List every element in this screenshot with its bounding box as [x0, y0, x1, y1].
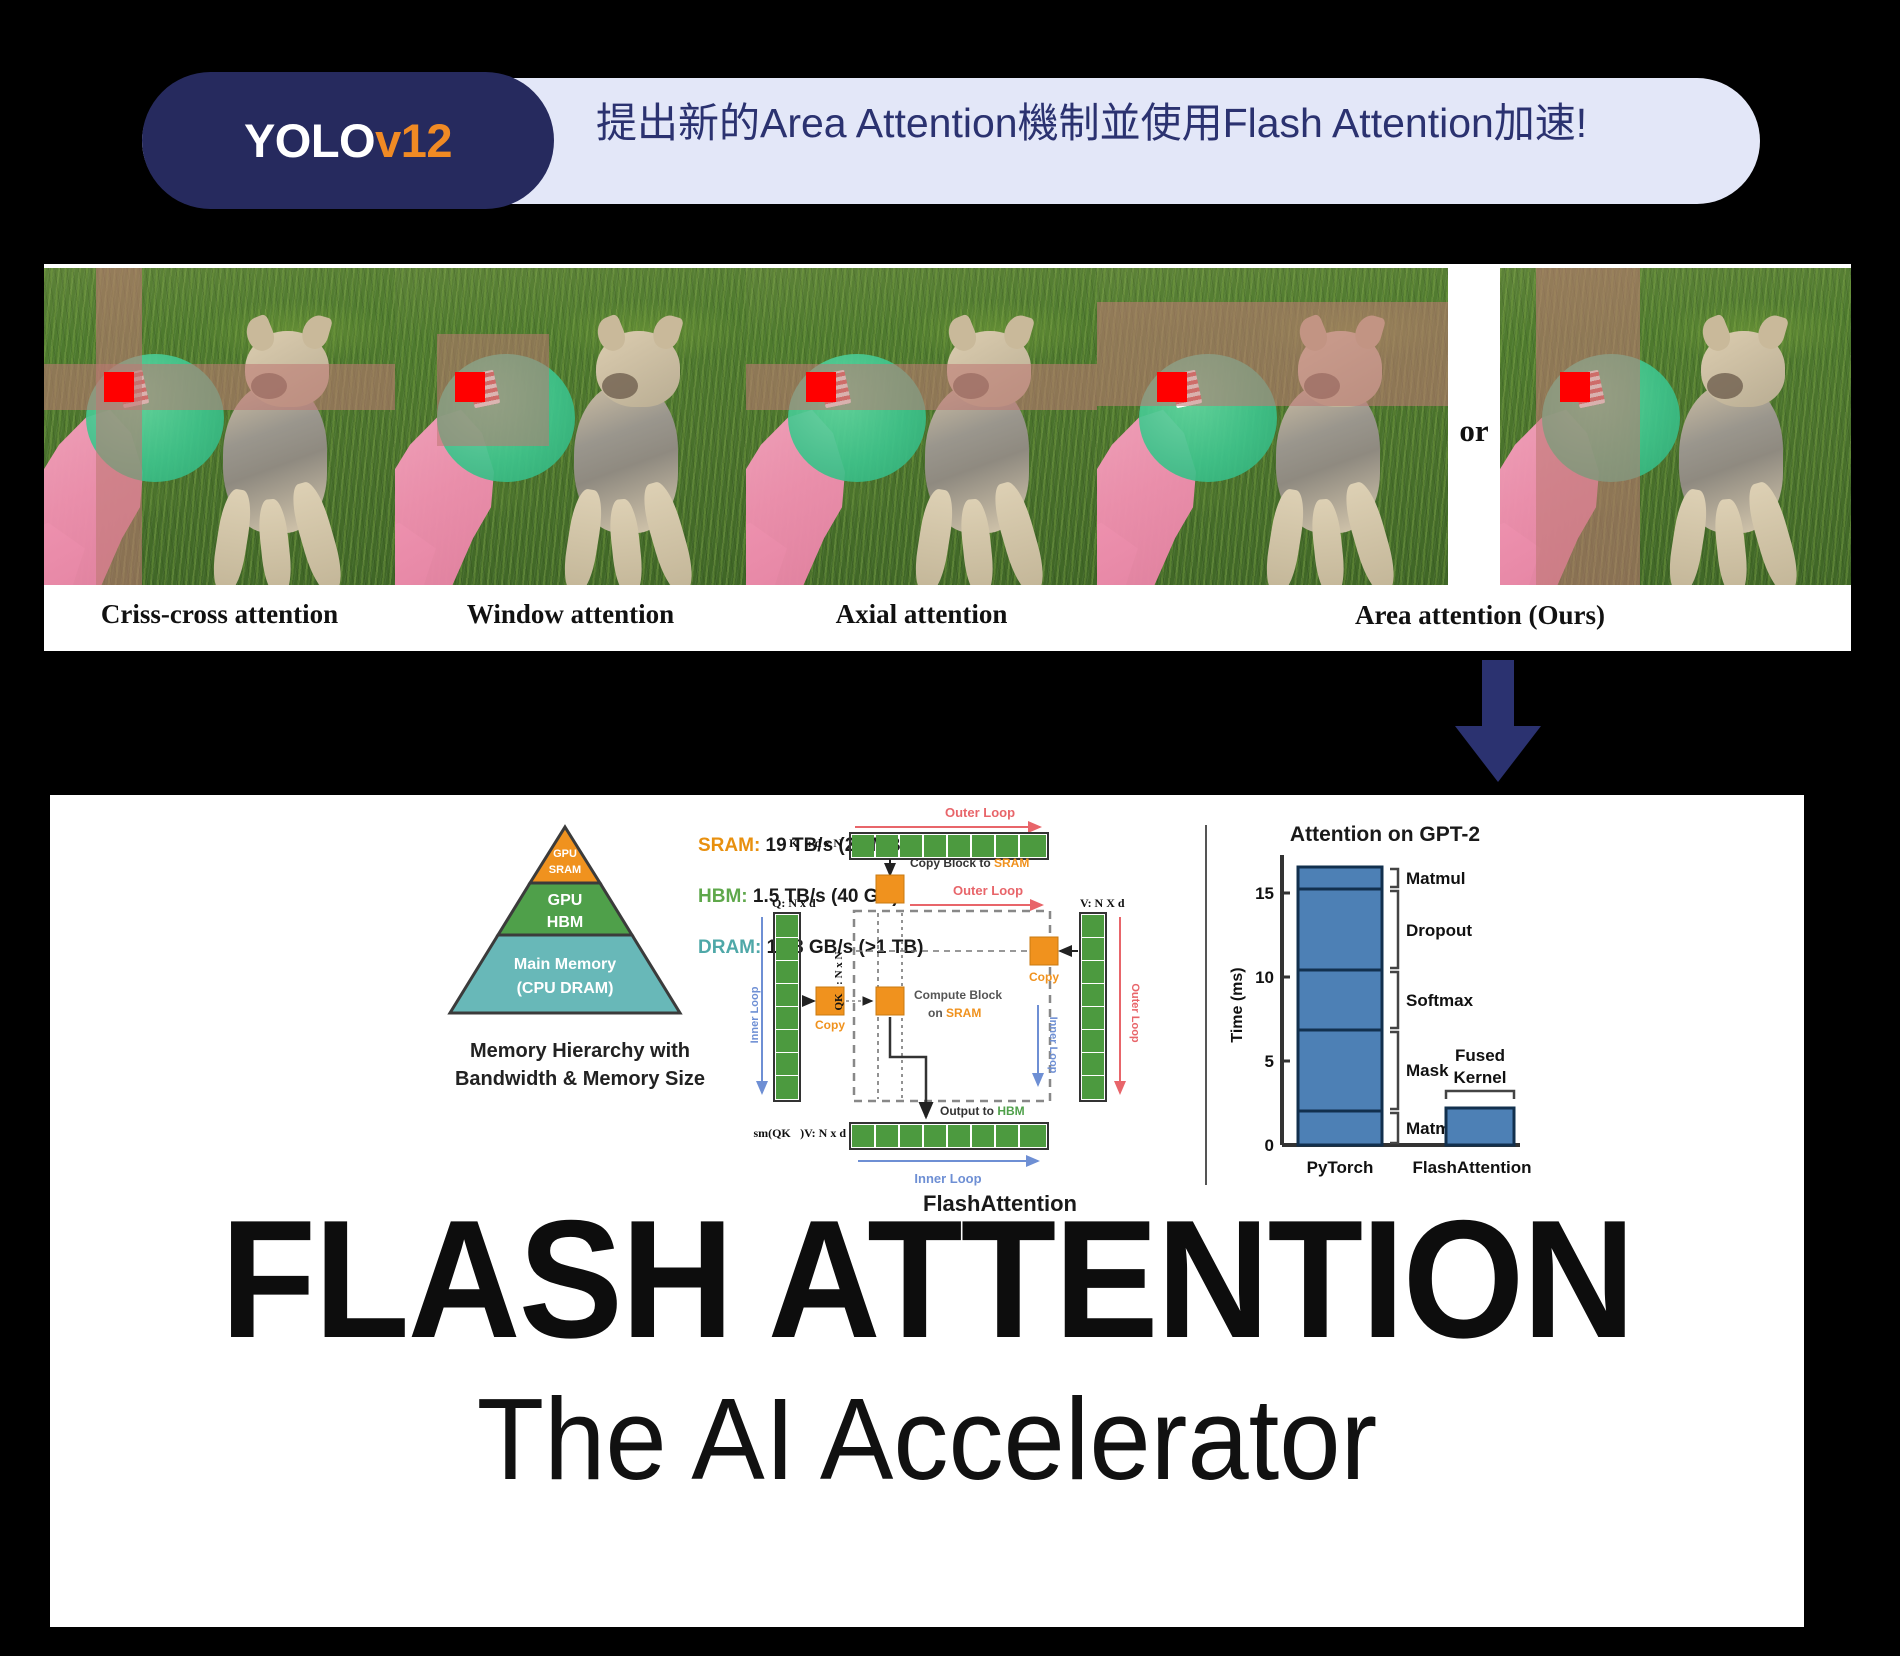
svg-text:V: N X d: V: N X d: [1080, 896, 1125, 910]
svg-text:K⃛: d x N: K⃛: d x N: [789, 836, 842, 850]
header-title: 提出新的Area Attention機制並使用Flash Attention加速…: [596, 96, 1706, 151]
slide-root: YOLOv12 提出新的Area Attention機制並使用Flash Att…: [0, 0, 1900, 1656]
flash-attention-diagram-row: GPU SRAM GPU HBM Main Memory (CPU DRAM) …: [50, 805, 1804, 1225]
dog-frisbee-photo: [746, 268, 1097, 585]
memory-hierarchy-caption-line1: Memory Hierarchy with: [430, 1037, 730, 1065]
dog-leg: [209, 487, 255, 585]
svg-text:Q: N x d: Q: N x d: [772, 896, 816, 910]
svg-text:GPU: GPU: [548, 892, 583, 909]
flashattention-block-diagram: Outer Loop K⃛: d x N Copy Block to SRAM: [750, 805, 1250, 1225]
svg-text:Copy: Copy: [815, 1018, 845, 1032]
dog-leg: [1742, 479, 1804, 585]
down-arrow-icon: [1455, 660, 1541, 782]
svg-text:Copy: Copy: [1029, 970, 1059, 984]
xtick-pytorch: PyTorch: [1307, 1158, 1374, 1177]
attention-image-window: [395, 268, 746, 585]
svg-text:Outer Loop: Outer Loop: [953, 883, 1023, 898]
dog-muzzle: [1304, 373, 1340, 399]
query-token-marker: [104, 372, 134, 402]
attention-image-area-horizontal: [1097, 268, 1448, 585]
attention-caption-area-label: Area attention (Ours): [1355, 600, 1605, 630]
flash-attention-subhead: The AI Accelerator: [94, 1381, 1760, 1497]
flash-attention-card: GPU SRAM GPU HBM Main Memory (CPU DRAM) …: [50, 795, 1804, 1627]
svg-text:Time (ms): Time (ms): [1229, 967, 1246, 1042]
attention-panel-area-vertical: [1500, 264, 1851, 651]
svg-text:Inner Loop: Inner Loop: [914, 1171, 981, 1186]
dog: [901, 321, 1069, 585]
attention-caption-axial: Axial attention: [836, 599, 1008, 630]
attention-caption-area: Area attention (Ours): [1130, 600, 1830, 631]
or-separator: or: [1448, 264, 1500, 651]
query-token-marker: [1560, 372, 1590, 402]
svg-text:Main Memory: Main Memory: [514, 956, 616, 973]
svg-text:Outer Loop: Outer Loop: [945, 805, 1015, 820]
memory-spec-hbm-key: HBM:: [698, 886, 748, 907]
segment-label-softmax: Softmax: [1406, 991, 1474, 1010]
flashattention-diagram-svg: Outer Loop K⃛: d x N Copy Block to SRAM: [750, 805, 1250, 1205]
dog: [1252, 321, 1420, 585]
dog-frisbee-photo: [1500, 268, 1851, 585]
attention-panel-axial: Axial attention: [746, 264, 1097, 651]
svg-text:15: 15: [1255, 884, 1274, 903]
svg-text:Copy Block to SRAM: Copy Block to SRAM: [910, 856, 1029, 870]
attention-caption-window: Window attention: [467, 599, 674, 630]
svg-text:0: 0: [1265, 1136, 1274, 1155]
chart-title: Attention on GPT-2: [1220, 823, 1550, 847]
svg-text:Inner Loop: Inner Loop: [1047, 1017, 1059, 1074]
dog-muzzle: [602, 373, 638, 399]
yolo-version-badge: YOLOv12: [142, 72, 554, 209]
svg-text:sm(QK⃛)V: N x d: sm(QK⃛)V: N x d: [753, 1126, 846, 1140]
attention-runtime-chart: Attention on GPT-2 0 5 10 15: [1220, 823, 1550, 1223]
attention-comparison-strip: Criss-cross attention: [44, 264, 1851, 651]
attention-panel-criss-cross: Criss-cross attention: [44, 264, 395, 651]
query-token-marker: [1157, 372, 1187, 402]
query-token-marker: [806, 372, 836, 402]
dog-leg: [911, 487, 957, 585]
memory-pyramid-icon: GPU SRAM GPU HBM Main Memory (CPU DRAM): [440, 823, 690, 1019]
svg-text:GPU: GPU: [553, 848, 577, 860]
dog-leg: [1262, 487, 1308, 585]
memory-hierarchy-caption-line2: Bandwidth & Memory Size: [430, 1065, 730, 1093]
dog: [550, 321, 718, 585]
attention-panel-window: Window attention: [395, 264, 746, 651]
attention-image-axial: [746, 268, 1097, 585]
badge-v12-text: v12: [375, 114, 452, 167]
memory-hierarchy-figure: GPU SRAM GPU HBM Main Memory (CPU DRAM) …: [430, 815, 730, 1075]
segment-label-fused-kernel-1: Fused: [1455, 1046, 1505, 1065]
bar-pytorch: [1298, 867, 1382, 1145]
dog: [1655, 321, 1823, 585]
svg-text:Compute Block: Compute Block: [914, 988, 1002, 1002]
svg-text:Inner Loop: Inner Loop: [750, 986, 761, 1043]
dog-leg: [560, 487, 606, 585]
query-token-marker: [455, 372, 485, 402]
dog-frisbee-photo: [1097, 268, 1448, 585]
segment-label-mask: Mask: [1406, 1061, 1449, 1080]
dog-leg: [1665, 487, 1711, 585]
svg-text:SRAM: SRAM: [549, 864, 581, 876]
svg-text:Output to HBM: Output to HBM: [940, 1104, 1025, 1118]
dog-leg: [988, 479, 1050, 585]
or-label: or: [1459, 413, 1488, 449]
memory-hierarchy-caption: Memory Hierarchy with Bandwidth & Memory…: [430, 1037, 730, 1093]
segment-label-matmul-top: Matmul: [1406, 869, 1466, 888]
svg-text:on SRAM: on SRAM: [928, 1006, 981, 1020]
dog-frisbee-photo: [44, 268, 395, 585]
dog-muzzle: [953, 373, 989, 399]
dog: [199, 321, 367, 585]
badge-yolo-text: YOLO: [244, 114, 375, 167]
attention-image-area-vertical: [1500, 268, 1851, 585]
attention-image-criss-cross: [44, 268, 395, 585]
attention-panel-area-horizontal: [1097, 264, 1448, 651]
svg-text:(CPU DRAM): (CPU DRAM): [517, 980, 614, 997]
bar-flashattention: [1446, 1108, 1514, 1145]
segment-label-dropout: Dropout: [1406, 921, 1472, 940]
chart-svg: 0 5 10 15 Time (ms): [1220, 845, 1550, 1215]
attention-caption-criss-cross: Criss-cross attention: [101, 599, 338, 630]
dog-muzzle: [251, 373, 287, 399]
badge-label: YOLOv12: [244, 113, 452, 168]
diagram-divider: [1205, 825, 1207, 1185]
svg-text:Outer Loop: Outer Loop: [1129, 983, 1141, 1043]
dog-muzzle: [1707, 373, 1743, 399]
xtick-flashattention: FlashAttention: [1413, 1158, 1532, 1177]
svg-text:10: 10: [1255, 968, 1274, 987]
svg-text:HBM: HBM: [547, 914, 583, 931]
dog-frisbee-photo: [395, 268, 746, 585]
dog-leg: [1339, 479, 1401, 585]
svg-text:5: 5: [1265, 1052, 1274, 1071]
segment-label-fused-kernel-2: Kernel: [1454, 1068, 1507, 1087]
flash-attention-headline: FLASH ATTENTION: [111, 1195, 1742, 1363]
dog-leg: [637, 479, 699, 585]
dog-leg: [286, 479, 348, 585]
svg-text:QK⃛: N x N: QK⃛: N x N: [833, 951, 845, 1010]
